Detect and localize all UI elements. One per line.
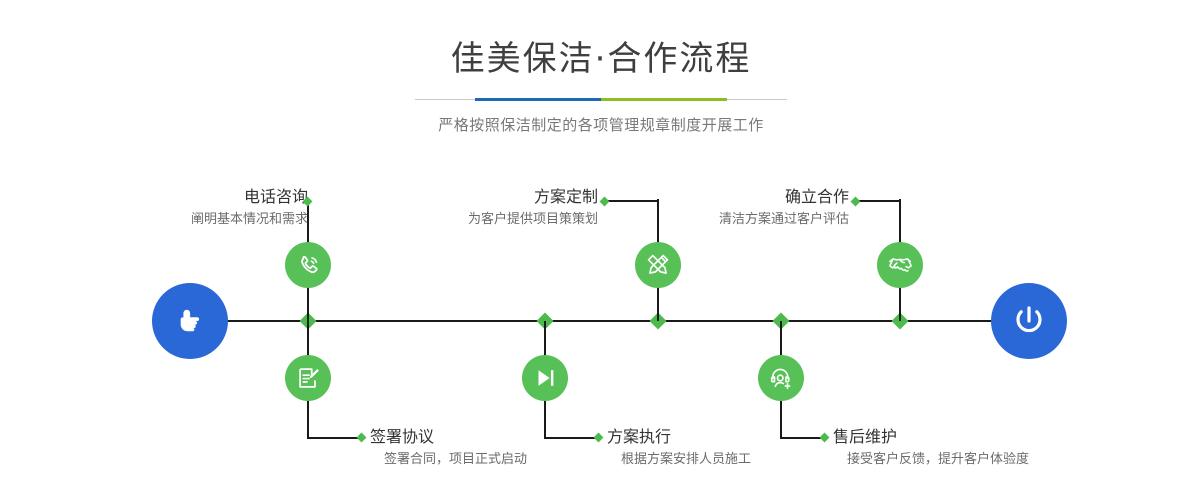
divider-blue-segment [475, 98, 601, 101]
step-label-1: 电话咨询 阐明基本情况和需求 [58, 188, 308, 228]
step-label-2: 签署协议 签署合同，项目正式启动 [370, 428, 630, 468]
step-title: 售后维护 [833, 428, 1113, 446]
step-label-3: 方案定制 为客户提供项目策策划 [350, 188, 598, 228]
step-desc: 接受客户反馈，提升客户体验度 [847, 452, 1113, 468]
timeline-start-node[interactable] [152, 283, 228, 359]
page-subtitle: 严格按照保洁制定的各项管理规章制度开展工作 [0, 118, 1202, 133]
label-arm-2 [308, 437, 362, 439]
divider-green-segment [601, 98, 727, 101]
step-title: 电话咨询 [58, 188, 308, 206]
step-desc: 清洁方案通过客户评估 [600, 212, 849, 228]
label-arm-4 [545, 437, 599, 439]
customer-service-add-icon [768, 365, 794, 391]
step-desc: 为客户提供项目策策划 [350, 212, 598, 228]
step-icon-badge-3[interactable] [635, 242, 681, 288]
document-edit-icon [295, 365, 321, 391]
flowchart-canvas: 佳美保洁·合作流程 严格按照保洁制定的各项管理规章制度开展工作 [0, 0, 1202, 502]
step-desc: 根据方案安排人员施工 [621, 452, 867, 468]
handshake-icon [887, 252, 914, 279]
power-icon [1008, 300, 1050, 342]
phone-call-icon [295, 252, 322, 279]
step-label-6: 售后维护 接受客户反馈，提升客户体验度 [833, 428, 1113, 468]
step-label-5: 确立合作 清洁方案通过客户评估 [600, 188, 849, 228]
step-label-4: 方案执行 根据方案安排人员施工 [607, 428, 867, 468]
play-step-icon [532, 365, 558, 391]
step-icon-badge-2[interactable] [285, 355, 331, 401]
step-icon-badge-6[interactable] [758, 355, 804, 401]
label-diamond-5 [851, 197, 861, 207]
title-divider [415, 98, 787, 101]
pencil-ruler-icon [645, 252, 671, 278]
header: 佳美保洁·合作流程 严格按照保洁制定的各项管理规章制度开展工作 [0, 0, 1202, 133]
label-diamond-2 [357, 433, 367, 443]
step-icon-badge-1[interactable] [285, 242, 331, 288]
timeline-end-node[interactable] [991, 283, 1067, 359]
pointing-hand-icon [170, 301, 210, 341]
step-title: 方案定制 [350, 188, 598, 206]
step-title: 确立合作 [600, 188, 849, 206]
step-icon-badge-4[interactable] [522, 355, 568, 401]
step-desc: 阐明基本情况和需求 [58, 212, 308, 228]
step-icon-badge-5[interactable] [877, 242, 923, 288]
page-title: 佳美保洁·合作流程 [0, 42, 1202, 76]
label-arm-5 [856, 200, 901, 202]
step-desc: 签署合同，项目正式启动 [384, 452, 630, 468]
